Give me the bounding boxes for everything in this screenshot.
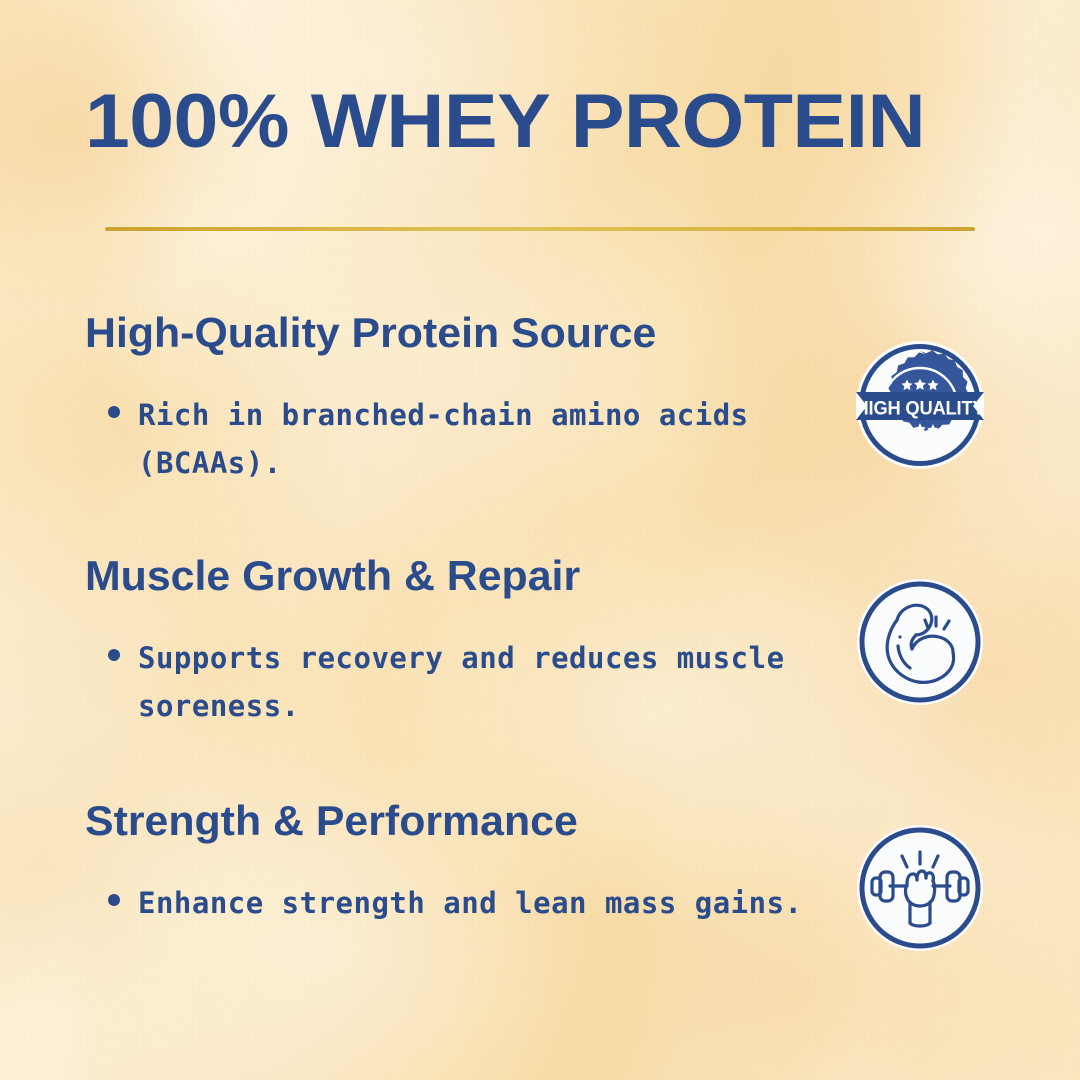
bullet-list-item: Supports recovery and reduces muscle sor… bbox=[108, 634, 808, 730]
flexed-bicep-icon bbox=[850, 572, 990, 712]
section-heading: Muscle Growth & Repair bbox=[85, 548, 580, 604]
section-heading: Strength & Performance bbox=[85, 793, 578, 849]
section-heading: High-Quality Protein Source bbox=[85, 305, 656, 361]
bullet-text: Supports recovery and reduces muscle sor… bbox=[138, 634, 808, 730]
bullet-list-item: Enhance strength and lean mass gains. bbox=[108, 879, 808, 927]
bullet-dot-icon bbox=[108, 649, 120, 661]
gold-divider-rule bbox=[105, 227, 975, 231]
bullet-dot-icon bbox=[108, 894, 120, 906]
bullet-dot-icon bbox=[108, 406, 120, 418]
badge-ribbon-label: HIGH QUALITY bbox=[856, 398, 986, 420]
bullet-list-item: Rich in branched-chain amino acids (BCAA… bbox=[108, 391, 808, 487]
bullet-text: Rich in branched-chain amino acids (BCAA… bbox=[138, 391, 808, 487]
poster-canvas: 100% WHEY PROTEIN High-Quality Protein S… bbox=[0, 0, 1080, 1080]
high-quality-badge-icon: HIGH QUALITY bbox=[850, 335, 990, 475]
bullet-text: Enhance strength and lean mass gains. bbox=[138, 879, 808, 927]
poster-content: 100% WHEY PROTEIN High-Quality Protein S… bbox=[0, 0, 1080, 1080]
hand-dumbbell-icon bbox=[850, 818, 990, 958]
page-title: 100% WHEY PROTEIN bbox=[85, 74, 1050, 170]
